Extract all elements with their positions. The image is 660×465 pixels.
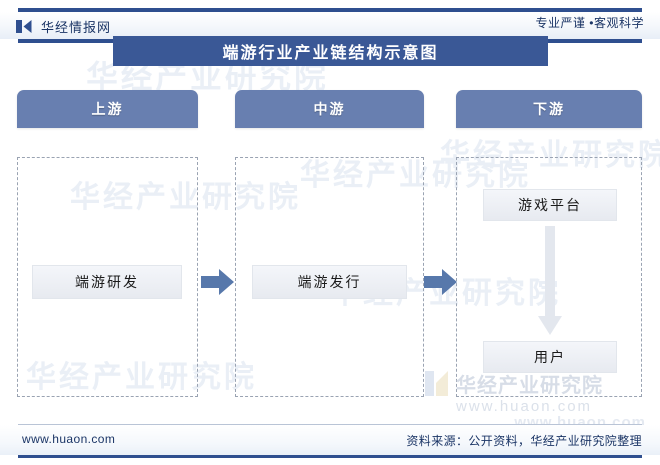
- node-label: 游戏平台: [518, 195, 582, 215]
- footer-source: 资料来源：公开资料，华经产业研究院整理: [406, 432, 642, 449]
- arrow-down-icon: [537, 226, 563, 336]
- footer-divider-top: [18, 424, 642, 425]
- brand-name: 华经情报网: [41, 17, 111, 36]
- node-label: 端游研发: [75, 272, 139, 292]
- column-header-midstream[interactable]: 中游: [235, 90, 424, 128]
- page-title-text: 端游行业产业链结构示意图: [222, 39, 438, 63]
- column-header-label: 中游: [314, 99, 346, 119]
- node-游戏平台[interactable]: 游戏平台: [483, 189, 617, 221]
- node-label: 用户: [534, 347, 566, 367]
- column-header-label: 上游: [92, 99, 124, 119]
- huaon-watermark-icon: [424, 368, 450, 398]
- node-用户[interactable]: 用户: [483, 341, 617, 373]
- tagline: 专业严谨 •客观科学: [535, 14, 644, 31]
- column-header-downstream[interactable]: 下游: [456, 90, 642, 128]
- node-label: 端游发行: [298, 272, 362, 292]
- node-端游研发[interactable]: 端游研发: [32, 265, 182, 299]
- page-title: 端游行业产业链结构示意图: [113, 36, 548, 66]
- arrow-right-icon: [201, 268, 234, 296]
- footer-divider-bottom: [18, 455, 642, 458]
- column-header-label: 下游: [533, 99, 565, 119]
- column-header-upstream[interactable]: 上游: [17, 90, 198, 128]
- huaon-logo-icon: [16, 19, 33, 34]
- node-端游发行[interactable]: 端游发行: [252, 265, 407, 299]
- watermark-url: www.huaon.com: [456, 398, 592, 415]
- arrow-right-icon: [424, 268, 457, 296]
- infographic-page: 华经产业研究院 华经产业研究院 华经产业研究院 华经产业研究院 华经产业研究院 …: [0, 0, 660, 465]
- brand[interactable]: 华经情报网: [16, 13, 111, 39]
- footer-site-link[interactable]: www.huaon.com: [22, 432, 115, 446]
